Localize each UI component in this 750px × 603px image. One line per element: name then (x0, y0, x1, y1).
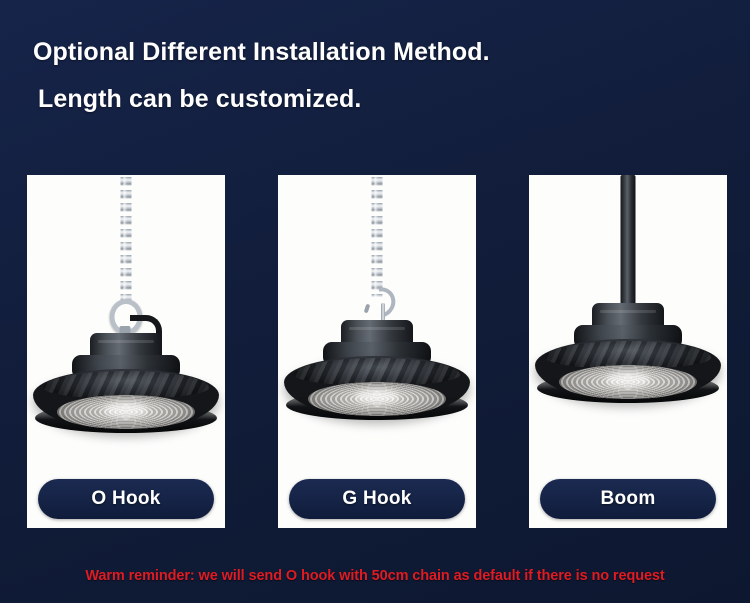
label-text-g-hook: G Hook (342, 488, 411, 510)
ufo-high-bay-lamp-icon (284, 320, 470, 430)
label-button-o-hook[interactable]: O Hook (38, 479, 214, 519)
boom-rod-icon (621, 175, 636, 315)
product-image-g-hook (278, 175, 476, 470)
product-panel-o-hook[interactable]: O Hook (27, 175, 225, 528)
label-slot-g-hook: G Hook (278, 470, 476, 528)
product-panel-row: O Hook (27, 175, 727, 528)
headline-line-2: Length can be customized. (38, 85, 750, 114)
label-text-o-hook: O Hook (91, 488, 160, 510)
label-slot-boom: Boom (529, 470, 727, 528)
label-slot-o-hook: O Hook (27, 470, 225, 528)
chain-icon (121, 175, 132, 303)
headline-line-1: Optional Different Installation Method. (33, 38, 750, 67)
product-panel-g-hook[interactable]: G Hook (278, 175, 476, 528)
chain-icon (372, 175, 383, 297)
label-button-boom[interactable]: Boom (540, 479, 716, 519)
hook-shank (381, 303, 385, 321)
ufo-high-bay-lamp-icon (33, 333, 219, 443)
product-panel-boom[interactable]: Boom (529, 175, 727, 528)
lamp-lens (57, 395, 195, 429)
heading-block: Optional Different Installation Method. … (0, 38, 750, 114)
reminder-text: Warm reminder: we will send O hook with … (85, 568, 664, 584)
product-image-o-hook (27, 175, 225, 470)
footer-reminder: Warm reminder: we will send O hook with … (0, 567, 750, 585)
lamp-lens (308, 382, 446, 416)
label-text-boom: Boom (600, 488, 655, 510)
label-button-g-hook[interactable]: G Hook (289, 479, 465, 519)
product-image-boom (529, 175, 727, 470)
ufo-high-bay-lamp-icon (535, 303, 721, 413)
promo-banner: Optional Different Installation Method. … (0, 0, 750, 603)
g-open-hook-icon (364, 287, 390, 321)
lamp-lens (559, 365, 697, 399)
